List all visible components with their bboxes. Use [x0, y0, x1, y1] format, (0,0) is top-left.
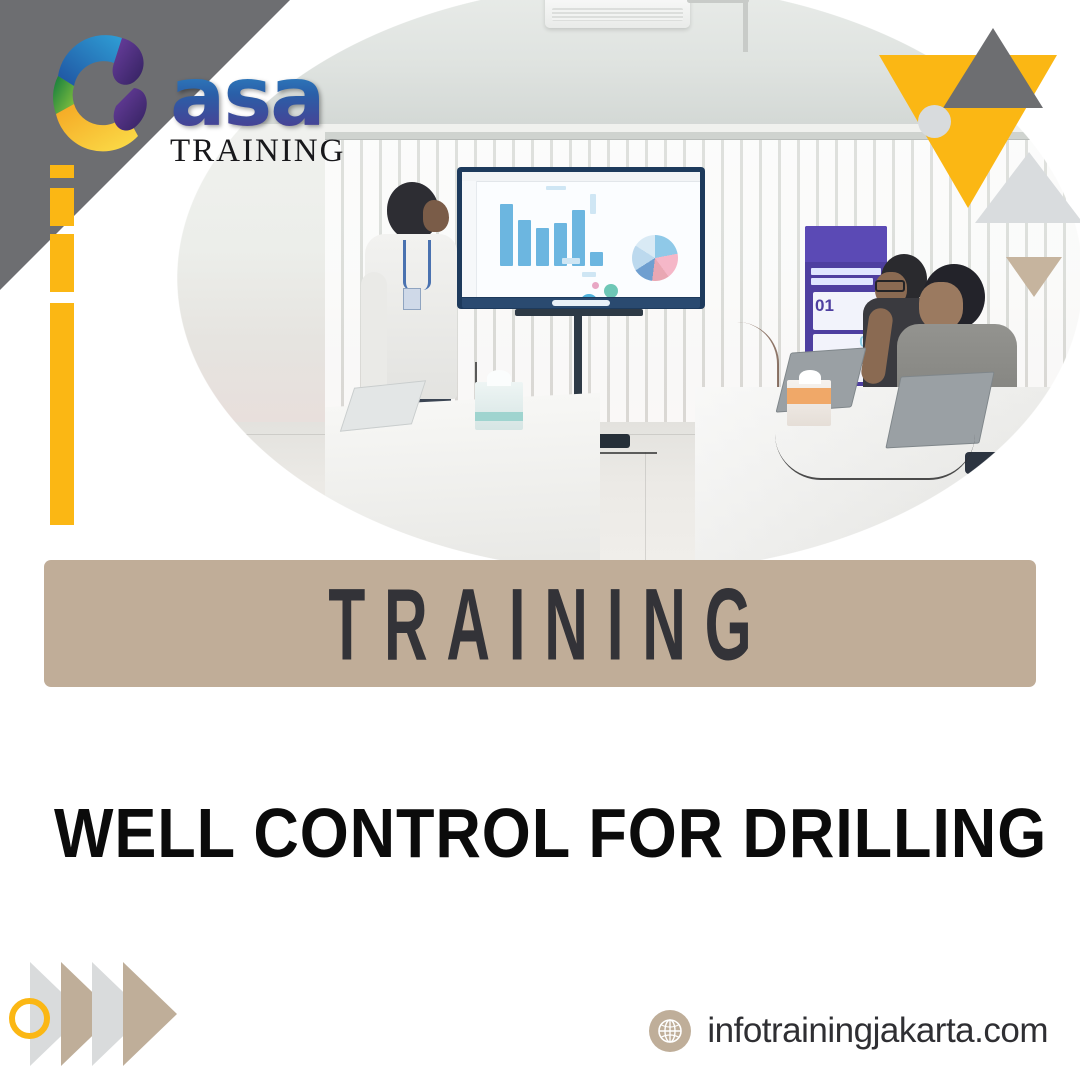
page-title: WELL CONTROL FOR DRILLING [54, 793, 1026, 873]
screen-bottom-bezel [462, 298, 700, 308]
website-footer[interactable]: infotrainingjakarta.com [649, 1010, 1048, 1052]
casa-training-logo[interactable]: asa TRAINING [34, 18, 345, 170]
poster-canvas: 01 02 [0, 0, 1080, 1080]
gray-up-triangle-icon [943, 28, 1043, 108]
yellow-ring-icon [9, 998, 50, 1039]
presenter-face [423, 200, 449, 232]
yellow-dash-2 [50, 188, 74, 226]
screen-bubble [604, 284, 618, 297]
logo-word: asa [170, 64, 345, 131]
poster-number-1: 01 [815, 296, 834, 316]
poster-title-line-2 [811, 278, 873, 285]
screen-label [590, 194, 596, 214]
presenter-lanyard [403, 240, 431, 290]
yellow-dash-4 [50, 303, 74, 525]
screen-bubble [580, 294, 598, 297]
banner-label: TRAINING [310, 572, 771, 674]
tissue-box [475, 382, 523, 430]
tissue-box [787, 380, 831, 426]
website-url: infotrainingjakarta.com [707, 1011, 1048, 1051]
screen-label [562, 258, 580, 264]
participant-table-cloth [695, 387, 1080, 574]
screen-label [546, 186, 566, 190]
air-conditioner [545, 0, 690, 28]
chevron-arrows-icon [30, 962, 230, 1066]
globe-icon [649, 1010, 691, 1052]
presentation-screen [457, 167, 705, 309]
participant-b-face [919, 282, 963, 330]
tan-down-triangle-icon [1006, 257, 1062, 297]
floor-tile-line [645, 452, 646, 562]
screen-bar-chart [500, 194, 603, 266]
screen-bubble [592, 282, 599, 289]
ac-pipe-vertical [743, 0, 748, 52]
logo-wordmark: asa TRAINING [170, 64, 345, 170]
yellow-dash-3 [50, 234, 74, 292]
lightgray-up-triangle-icon [975, 152, 1080, 223]
participant-a-glasses [875, 280, 905, 292]
screen-sidebar [462, 181, 477, 297]
screen-toolbar [462, 172, 700, 182]
screen-label [582, 272, 596, 277]
screen-pie-chart [632, 235, 678, 281]
screen-display [462, 172, 700, 297]
presenter-badge [403, 288, 421, 310]
casa-circular-logo-icon [34, 18, 174, 168]
gray-circle-icon [918, 105, 951, 138]
smartphone [965, 452, 1021, 474]
poster-title-line-1 [811, 268, 881, 275]
table-cable [775, 434, 975, 480]
ac-pipe [687, 0, 749, 3]
poster-header [805, 226, 887, 262]
chevron-4-icon [123, 962, 177, 1066]
presenter-arm [361, 272, 387, 402]
training-banner: TRAINING [44, 560, 1036, 687]
